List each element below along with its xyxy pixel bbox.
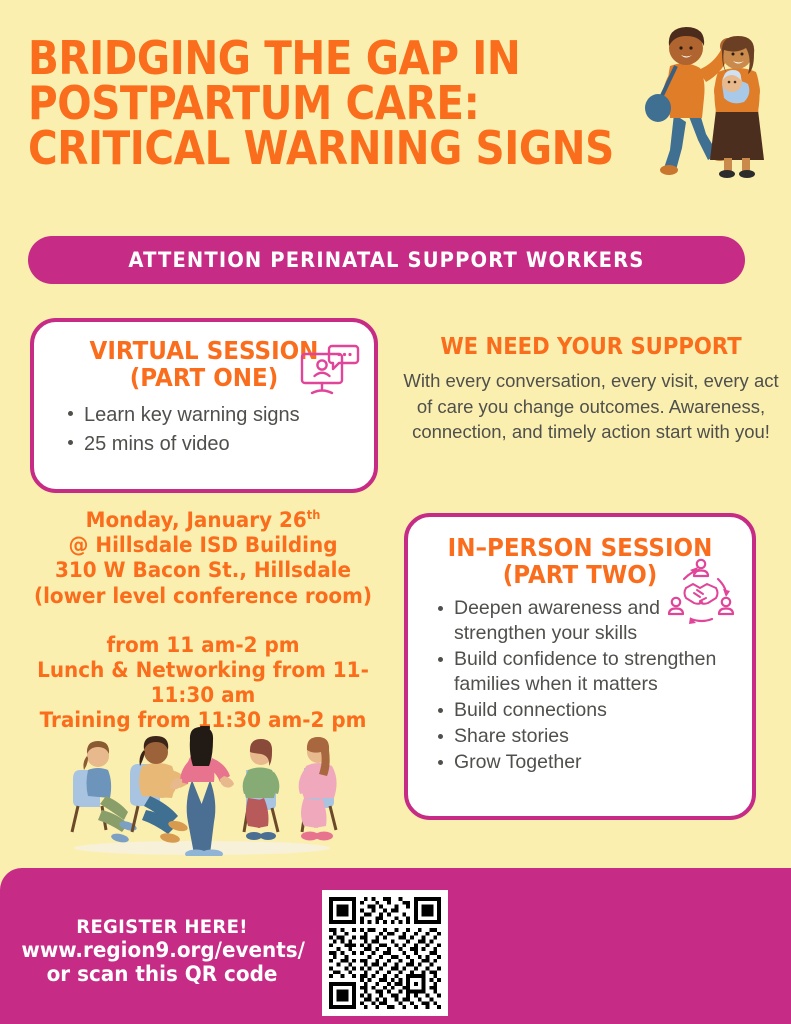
list-item: Grow Together bbox=[438, 750, 736, 775]
inperson-session-card: IN–PERSON SESSION (PART TWO) bbox=[404, 513, 756, 820]
page-title: BRIDGING THE GAP IN POSTPARTUM CARE: CRI… bbox=[28, 36, 648, 171]
support-heading: WE NEED YOUR SUPPORT bbox=[412, 334, 771, 360]
event-time-overall: from 11 am-2 pm bbox=[27, 633, 379, 658]
title-line-3: CRITICAL WARNING SIGNS bbox=[28, 126, 574, 171]
list-item: 25 mins of video bbox=[68, 430, 360, 458]
title-line-1: BRIDGING THE GAP IN bbox=[28, 36, 574, 81]
register-block: REGISTER HERE! www.region9.org/events/ o… bbox=[14, 916, 310, 987]
list-item: Build confidence to strengthen families … bbox=[438, 647, 736, 697]
event-time-lunch-line-2: 11:30 am bbox=[27, 683, 379, 708]
event-schedule-group: from 11 am-2 pm Lunch & Networking from … bbox=[27, 633, 379, 734]
event-date: Monday, January 26th bbox=[27, 508, 379, 533]
event-date-ordinal: th bbox=[307, 508, 321, 522]
video-call-icon bbox=[298, 342, 360, 400]
event-time-lunch-line-1: Lunch & Networking from 11- bbox=[27, 658, 379, 683]
poster-flyer: BRIDGING THE GAP IN POSTPARTUM CARE: CRI… bbox=[0, 0, 791, 1024]
event-details-block: Monday, January 26th @ Hillsdale ISD Bui… bbox=[18, 508, 388, 734]
event-address: 310 W Bacon St., Hillsdale bbox=[27, 558, 379, 583]
event-location-group: Monday, January 26th @ Hillsdale ISD Bui… bbox=[27, 508, 379, 609]
footer-band: REGISTER HERE! www.region9.org/events/ o… bbox=[0, 868, 791, 1024]
register-qr-note: or scan this QR code bbox=[21, 962, 302, 986]
support-group-circle-illustration bbox=[58, 726, 346, 856]
inperson-session-bullet-list: Deepen awareness and strengthen your ski… bbox=[408, 588, 752, 775]
attention-banner-label: ATTENTION PERINATAL SUPPORT WORKERS bbox=[128, 248, 644, 272]
support-message-block: WE NEED YOUR SUPPORT With every conversa… bbox=[396, 334, 786, 445]
virtual-session-bullet-list: Learn key warning signs 25 mins of video bbox=[34, 391, 374, 459]
event-room: (lower level conference room) bbox=[27, 584, 379, 609]
list-item: Learn key warning signs bbox=[68, 401, 360, 429]
register-url[interactable]: www.region9.org/events/ bbox=[21, 938, 302, 962]
event-date-text: Monday, January 26 bbox=[86, 508, 307, 532]
attention-banner: ATTENTION PERINATAL SUPPORT WORKERS bbox=[28, 236, 745, 284]
qr-code[interactable] bbox=[322, 890, 448, 1016]
register-title: REGISTER HERE! bbox=[21, 916, 302, 938]
virtual-session-card: VIRTUAL SESSION (PART ONE) Learn key war… bbox=[30, 318, 378, 493]
event-venue: @ Hillsdale ISD Building bbox=[27, 533, 379, 558]
qr-code-icon[interactable] bbox=[329, 897, 441, 1009]
title-line-2: POSTPARTUM CARE: bbox=[28, 81, 574, 126]
support-body-text: With every conversation, every visit, ev… bbox=[396, 368, 786, 445]
list-item: Build connections bbox=[438, 698, 736, 723]
list-item: Deepen awareness and strengthen your ski… bbox=[438, 596, 736, 646]
list-item: Share stories bbox=[438, 724, 736, 749]
two-women-with-baby-illustration bbox=[636, 22, 786, 182]
